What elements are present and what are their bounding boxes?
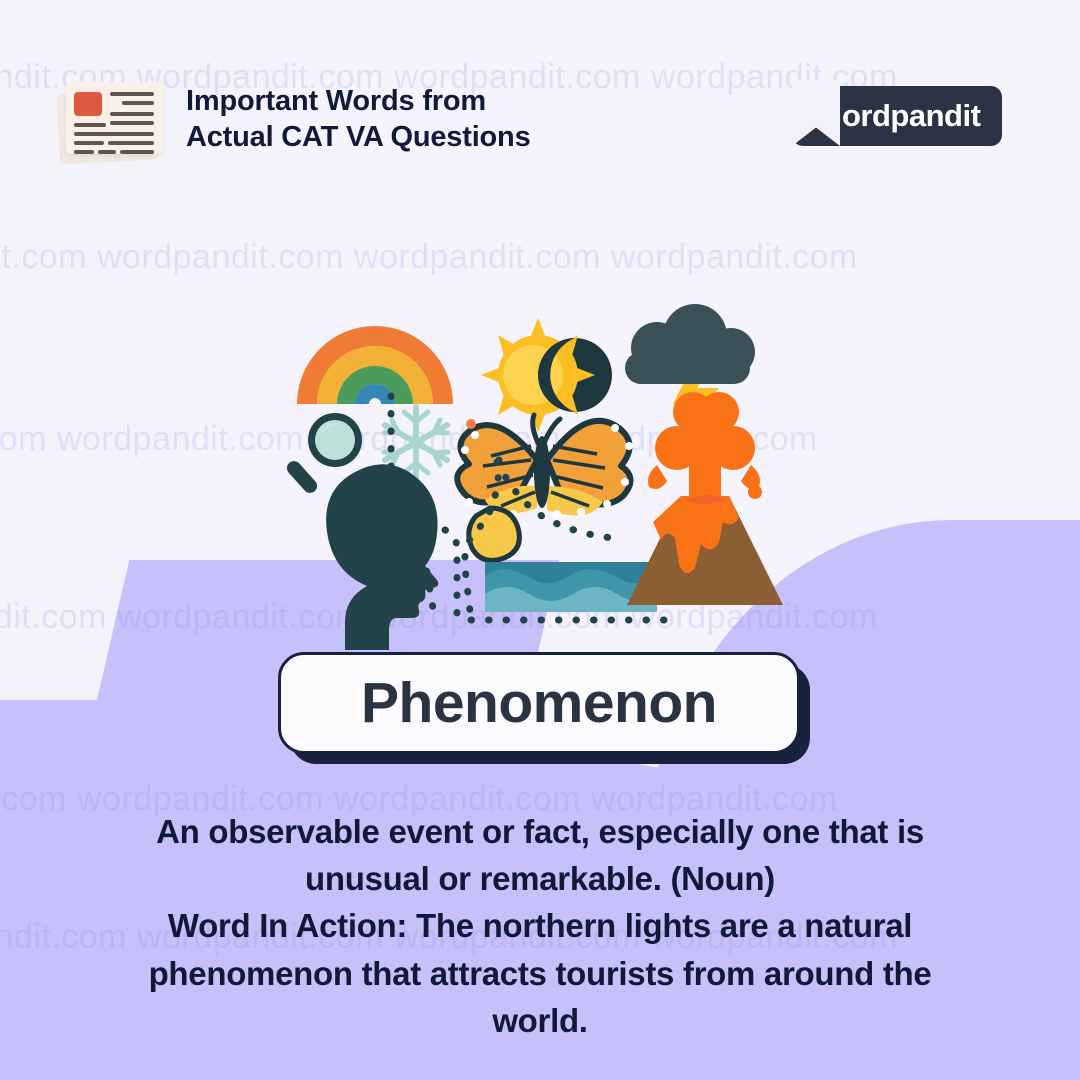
word-card: Phenomenon bbox=[278, 652, 810, 764]
word-label: Phenomenon bbox=[361, 675, 717, 732]
header: Important Words from Actual CAT VA Quest… bbox=[52, 70, 531, 170]
egg-sun-icon bbox=[469, 508, 520, 560]
word-card-body: Phenomenon bbox=[278, 652, 800, 754]
logo-text: ordpandit bbox=[842, 86, 980, 146]
head-silhouette-icon bbox=[326, 464, 438, 650]
poster-canvas: wordpandit.com wordpandit.com wordpandit… bbox=[0, 0, 1080, 1080]
definition-block: An observable event or fact, especially … bbox=[50, 808, 1030, 1044]
definition-line: unusual or remarkable. (Noun) bbox=[50, 855, 1030, 902]
volcano-icon bbox=[627, 392, 783, 605]
definition-line: phenomenon that attracts tourists from a… bbox=[50, 950, 1030, 997]
butterfly-icon bbox=[457, 415, 633, 518]
newspaper-icon bbox=[52, 70, 168, 170]
page-title: Important Words from Actual CAT VA Quest… bbox=[186, 84, 531, 156]
definition-line: world. bbox=[50, 997, 1030, 1044]
definition-line: Word In Action: The northern lights are … bbox=[50, 902, 1030, 949]
phenomenon-illustration bbox=[285, 300, 785, 650]
wordpandit-logo[interactable]: ordpandit bbox=[774, 86, 1002, 146]
sun-eclipse-icon bbox=[481, 318, 612, 432]
definition-line: An observable event or fact, especially … bbox=[50, 808, 1030, 855]
rainbow-icon bbox=[297, 326, 453, 404]
